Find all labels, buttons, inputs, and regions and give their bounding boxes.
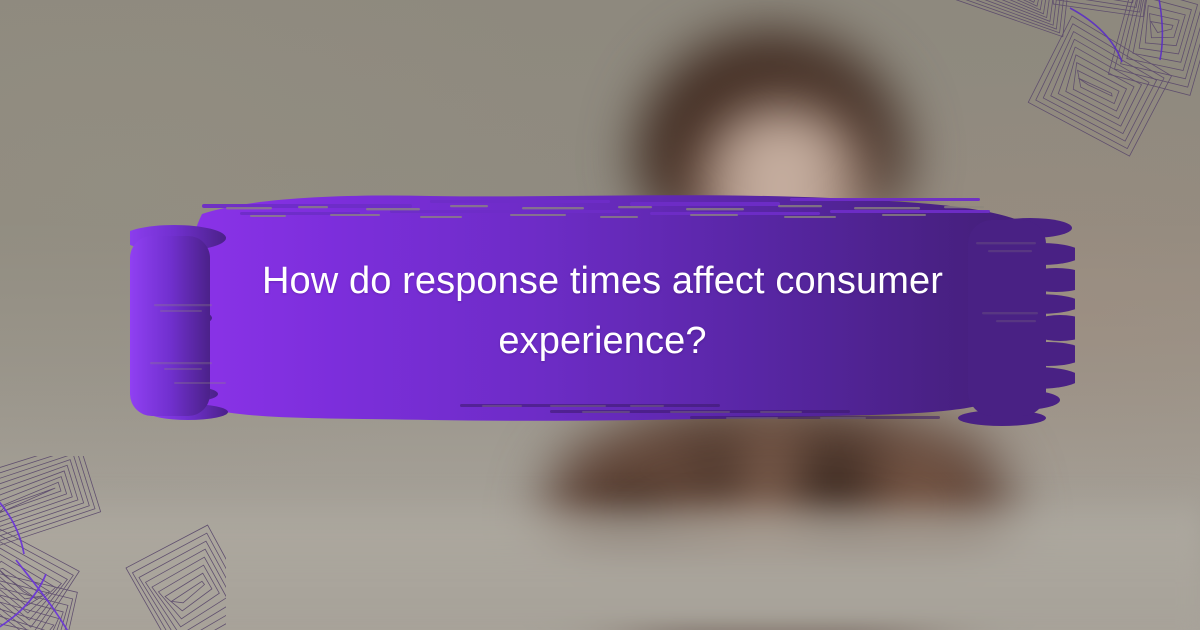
table-surface xyxy=(0,490,1200,630)
headline-container: How do response times affect consumer ex… xyxy=(130,176,1075,446)
page-title: How do response times affect consumer ex… xyxy=(253,251,953,371)
social-card: How do response times affect consumer ex… xyxy=(0,0,1200,630)
